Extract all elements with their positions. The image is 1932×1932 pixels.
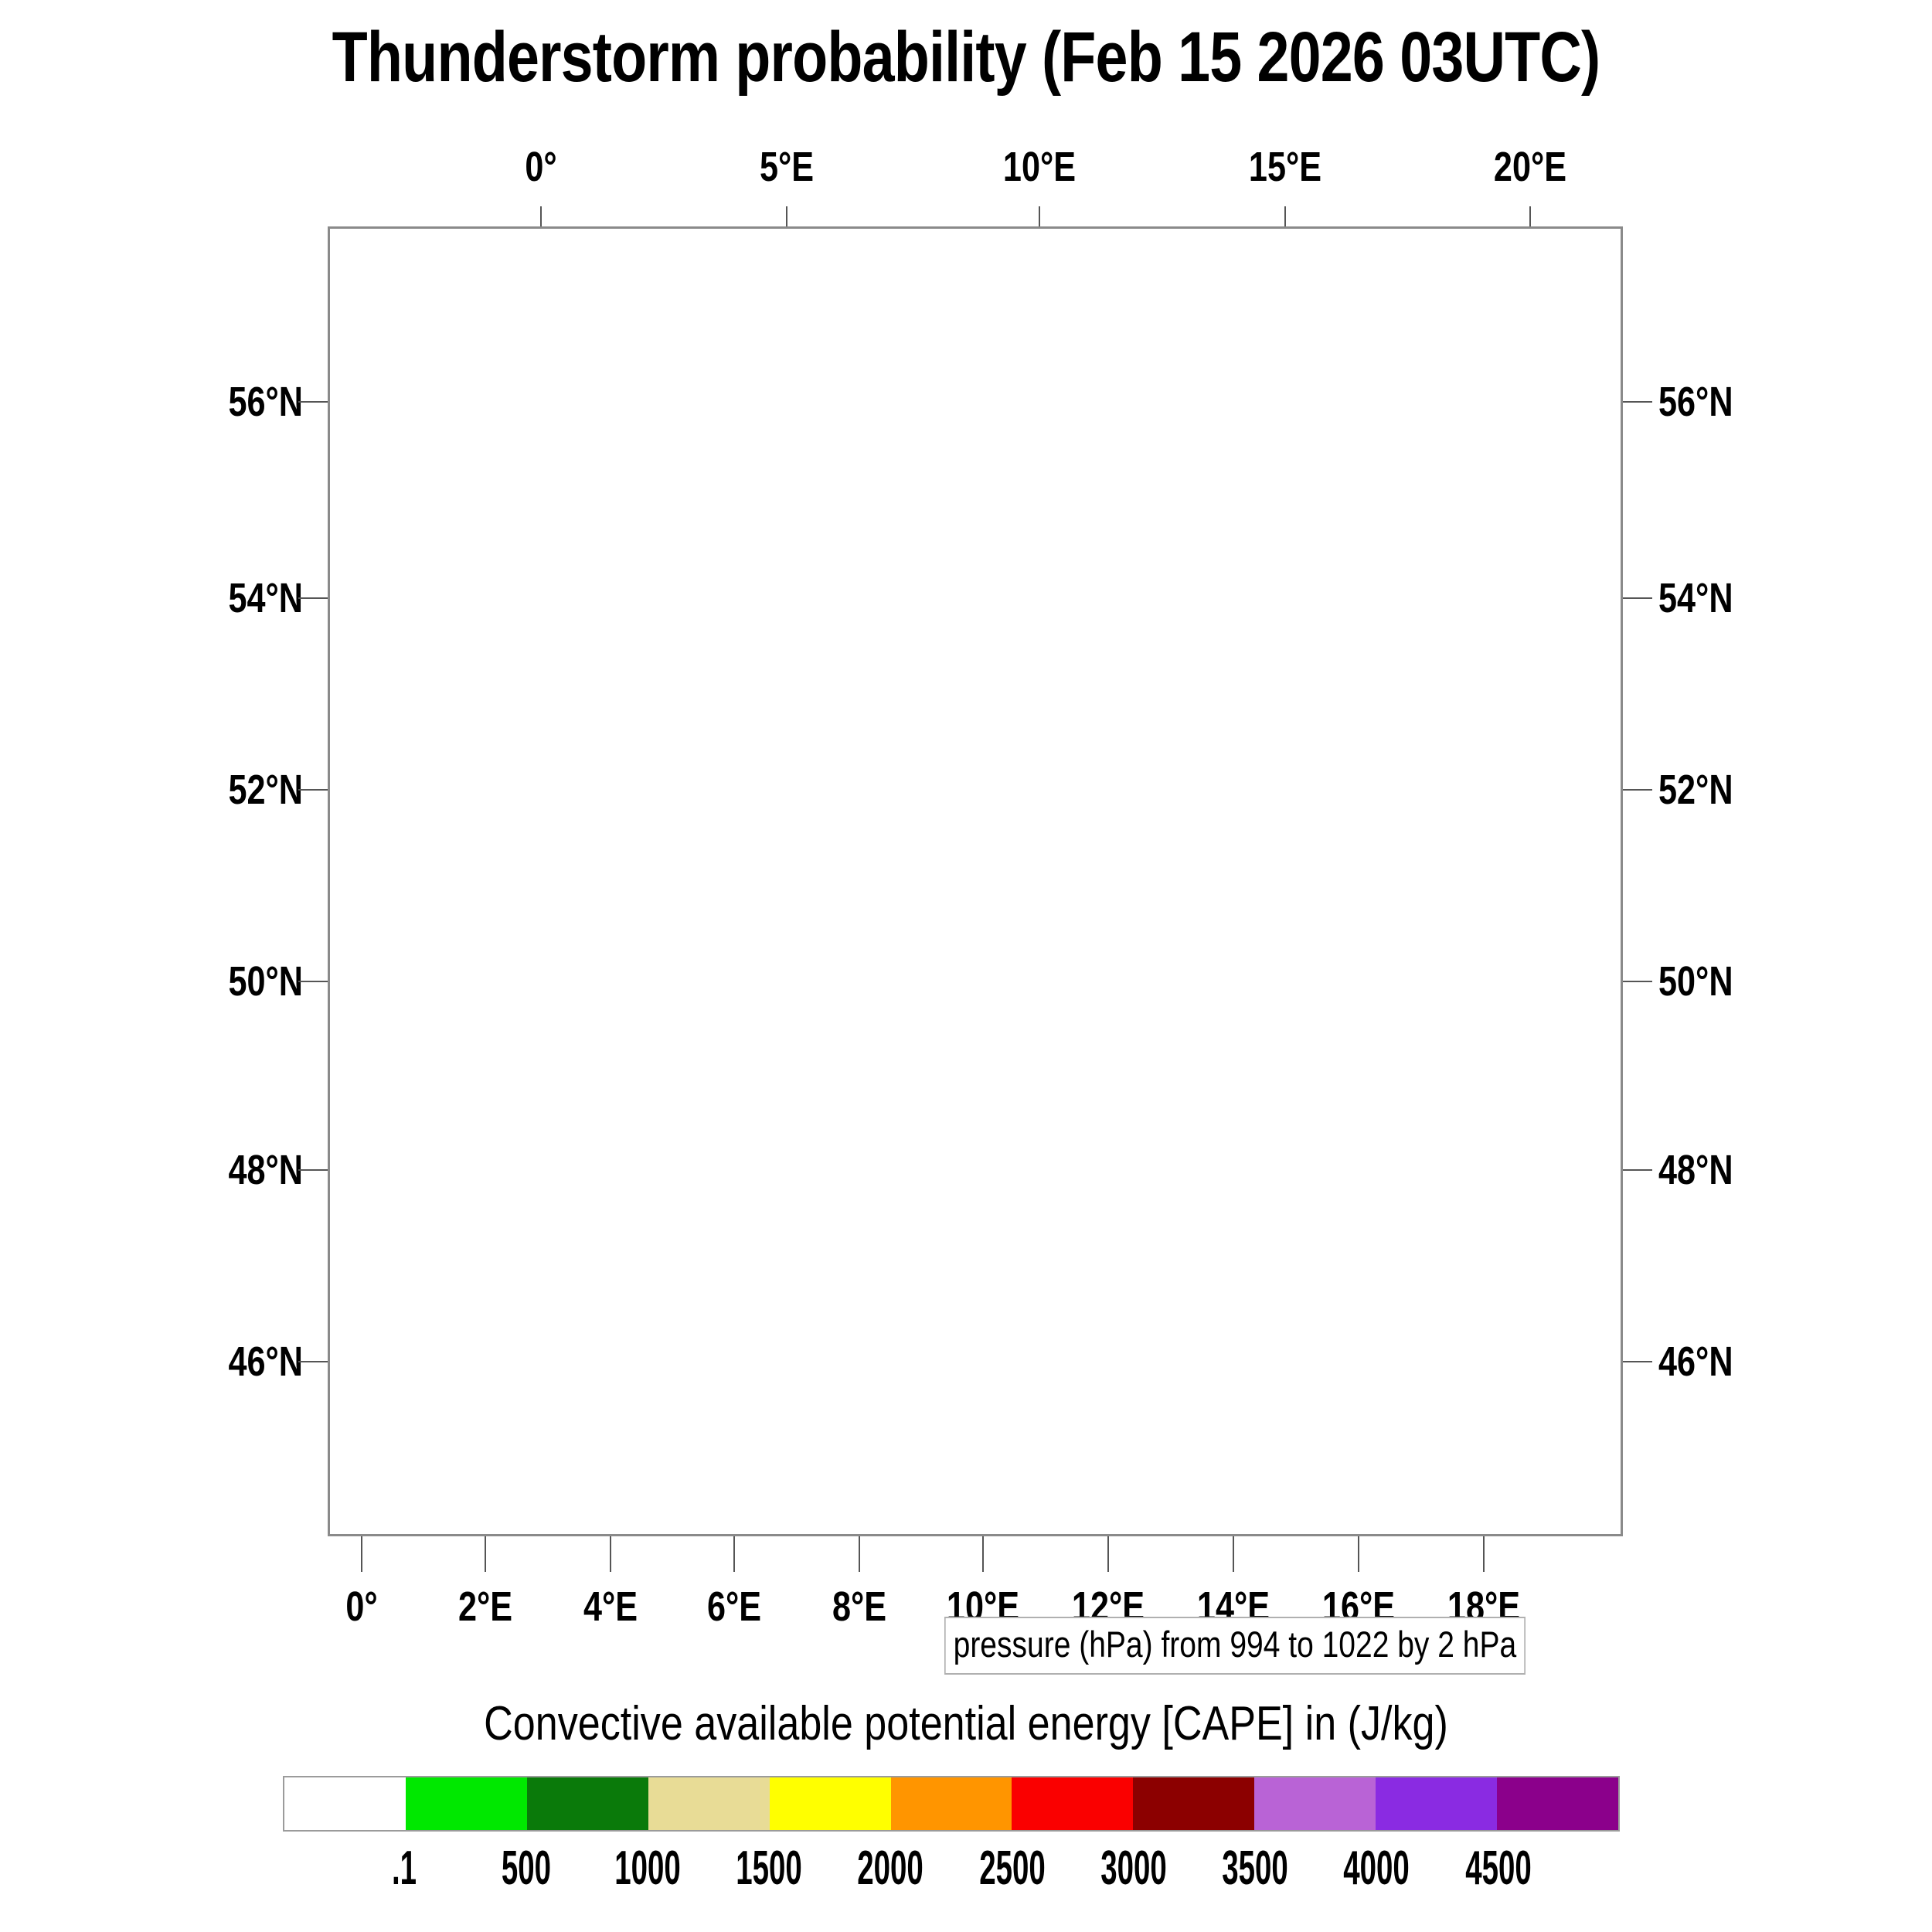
colorbar-tick-3000: 3000: [1100, 1841, 1167, 1896]
lat-tick-left-50°N: 50°N: [228, 957, 303, 1005]
colorbar-tick-4000: 4000: [1344, 1841, 1410, 1896]
tick-mark: [859, 1536, 860, 1572]
tick-mark: [298, 1361, 328, 1362]
tick-mark: [610, 1536, 611, 1572]
tick-mark: [361, 1536, 362, 1572]
tick-mark: [1623, 1169, 1652, 1171]
tick-mark: [1233, 1536, 1234, 1572]
colorbar-band-5: [891, 1777, 1012, 1830]
colorbar-band-0: [284, 1777, 406, 1830]
tick-mark: [1483, 1536, 1485, 1572]
colorbar-band-9: [1376, 1777, 1497, 1830]
tick-mark: [298, 789, 328, 791]
colorbar-tick-1500: 1500: [736, 1841, 802, 1896]
lon-tick-bottom-0°: 0°: [345, 1583, 377, 1631]
tick-mark: [298, 597, 328, 599]
tick-mark: [1623, 597, 1652, 599]
tick-mark: [1358, 1536, 1359, 1572]
lat-tick-left-48°N: 48°N: [228, 1146, 303, 1194]
tick-mark: [1623, 981, 1652, 982]
colorbar-band-10: [1497, 1777, 1618, 1830]
colorbar-tick-1000: 1000: [614, 1841, 681, 1896]
lon-tick-top-0°: 0°: [525, 143, 556, 191]
pressure-range-note: pressure (hPa) from 994 to 1022 by 2 hPa: [944, 1617, 1526, 1675]
lon-tick-top-10°E: 10°E: [1003, 143, 1076, 191]
lat-tick-right-46°N: 46°N: [1658, 1338, 1733, 1386]
colorbar-band-7: [1133, 1777, 1254, 1830]
lat-tick-left-56°N: 56°N: [228, 378, 303, 426]
lon-tick-bottom-6°E: 6°E: [707, 1583, 761, 1631]
lat-tick-right-52°N: 52°N: [1658, 766, 1733, 814]
tick-mark: [540, 206, 542, 226]
lat-tick-left-46°N: 46°N: [228, 1338, 303, 1386]
map-frame: [328, 226, 1623, 1536]
tick-mark: [733, 1536, 735, 1572]
tick-mark: [298, 1169, 328, 1171]
tick-mark: [1284, 206, 1286, 226]
tick-mark: [1529, 206, 1531, 226]
tick-mark: [485, 1536, 486, 1572]
colorbar-tick-500: 500: [501, 1841, 550, 1896]
colorbar-band-8: [1254, 1777, 1376, 1830]
lon-tick-bottom-4°E: 4°E: [583, 1583, 638, 1631]
tick-mark: [1039, 206, 1040, 226]
map-panel[interactable]: 100810161016101610161016100810081000-101…: [328, 226, 1623, 1536]
tick-mark: [1623, 1361, 1652, 1362]
lon-tick-top-15°E: 15°E: [1249, 143, 1321, 191]
colorbar-tick-2000: 2000: [858, 1841, 924, 1896]
page-title: Thunderstorm probability (Feb 15 2026 03…: [174, 17, 1758, 98]
colorbar-band-4: [770, 1777, 891, 1830]
colorbar-tick-2500: 2500: [979, 1841, 1046, 1896]
tick-mark: [1623, 401, 1652, 403]
tick-mark: [786, 206, 787, 226]
tick-mark: [298, 981, 328, 982]
lon-tick-bottom-2°E: 2°E: [458, 1583, 512, 1631]
lat-tick-right-56°N: 56°N: [1658, 378, 1733, 426]
colorbar-band-3: [648, 1777, 770, 1830]
lat-tick-right-50°N: 50°N: [1658, 957, 1733, 1005]
lon-tick-bottom-8°E: 8°E: [832, 1583, 886, 1631]
lat-tick-left-54°N: 54°N: [228, 574, 303, 622]
lon-tick-top-20°E: 20°E: [1494, 143, 1566, 191]
tick-mark: [1107, 1536, 1109, 1572]
colorbar-tick-3500: 3500: [1222, 1841, 1288, 1896]
lat-tick-right-54°N: 54°N: [1658, 574, 1733, 622]
lat-tick-left-52°N: 52°N: [228, 766, 303, 814]
colorbar-tick-labels: .150010001500200025003000350040004500: [283, 1841, 1620, 1910]
colorbar-band-2: [527, 1777, 648, 1830]
weather-map-figure: Thunderstorm probability (Feb 15 2026 03…: [0, 0, 1932, 1932]
tick-mark: [1623, 789, 1652, 791]
colorbar-band-1: [406, 1777, 527, 1830]
colorbar-band-6: [1012, 1777, 1133, 1830]
tick-mark: [298, 401, 328, 403]
lon-tick-top-5°E: 5°E: [760, 143, 814, 191]
tick-mark: [982, 1536, 984, 1572]
colorbar[interactable]: [283, 1776, 1620, 1832]
colorbar-tick-4500: 4500: [1465, 1841, 1532, 1896]
colorbar-tick-.1: .1: [392, 1841, 417, 1896]
lat-tick-right-48°N: 48°N: [1658, 1146, 1733, 1194]
colorbar-title: Convective available potential energy [C…: [155, 1696, 1777, 1751]
